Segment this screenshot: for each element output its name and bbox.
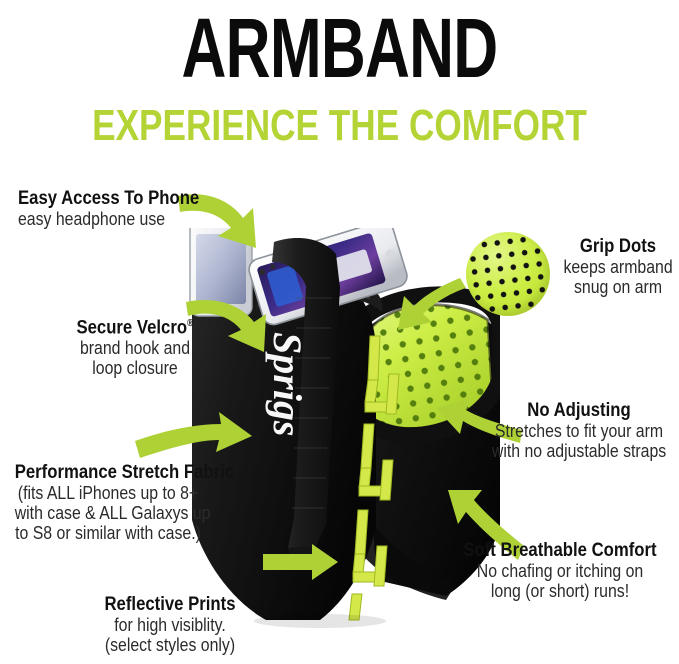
callout-stretch-fabric-line-2: with case & ALL Galaxys up (15, 503, 202, 523)
callout-reflective-prints: Reflective Prints for high visiblity. (s… (72, 594, 268, 655)
callout-secure-velcro-line-2: loop closure (69, 358, 201, 378)
brand-wordmark: Sprigs (265, 332, 310, 437)
callout-easy-access: Easy Access To Phone easy headphone use (18, 188, 224, 229)
callout-soft-comfort-line-1: No chafing or itching on (458, 561, 662, 581)
callout-secure-velcro-line-1: brand hook and (69, 338, 201, 358)
callout-no-adjusting-line-1: Stretches to fit your arm (492, 421, 666, 441)
callout-no-adjusting-line-2: with no adjustable straps (492, 441, 666, 461)
callout-stretch-fabric-line-3: to S8 or similar with case.) (15, 523, 202, 543)
callout-stretch-fabric-line-1: (fits ALL iPhones up to 8+ (15, 483, 202, 503)
callout-stretch-fabric: Performance Stretch Fabric (fits ALL iPh… (2, 462, 214, 543)
product-infographic: ARMBAND EXPERIENCE THE COMFORT (0, 0, 679, 664)
callout-stretch-fabric-heading: Performance Stretch Fabric (15, 462, 202, 483)
callout-soft-comfort: Soft Breathable Comfort No chafing or it… (444, 540, 676, 601)
callout-no-adjusting-heading: No Adjusting (492, 400, 666, 421)
callout-grip-dots-heading: Grip Dots (563, 236, 672, 257)
callout-reflective-prints-line-2: (select styles only) (84, 635, 256, 655)
callout-grip-dots-line-1: keeps armband (563, 257, 672, 277)
page-title: ARMBAND (88, 6, 590, 90)
callout-no-adjusting: No Adjusting Stretches to fit your arm w… (480, 400, 678, 461)
callout-reflective-prints-line-1: for high visiblity. (84, 615, 256, 635)
registered-trademark-icon: ® (187, 318, 193, 329)
callout-soft-comfort-heading: Soft Breathable Comfort (458, 540, 662, 561)
callout-reflective-prints-heading: Reflective Prints (84, 594, 256, 615)
grip-dots-pattern (466, 232, 550, 316)
callout-secure-velcro-heading-text: Secure Velcro (76, 317, 187, 338)
callout-soft-comfort-line-2: long (or short) runs! (458, 581, 662, 601)
callout-grip-dots: Grip Dots keeps armband snug on arm (556, 236, 679, 297)
callout-easy-access-heading: Easy Access To Phone (18, 188, 199, 209)
callout-grip-dots-line-2: snug on arm (563, 277, 672, 297)
callout-easy-access-line-1: easy headphone use (18, 209, 199, 229)
grip-dots-swatch (466, 232, 550, 316)
page-subtitle: EXPERIENCE THE COMFORT (68, 104, 611, 148)
callout-secure-velcro-heading: Secure Velcro® (69, 313, 201, 338)
callout-secure-velcro: Secure Velcro® brand hook and loop closu… (60, 313, 210, 378)
